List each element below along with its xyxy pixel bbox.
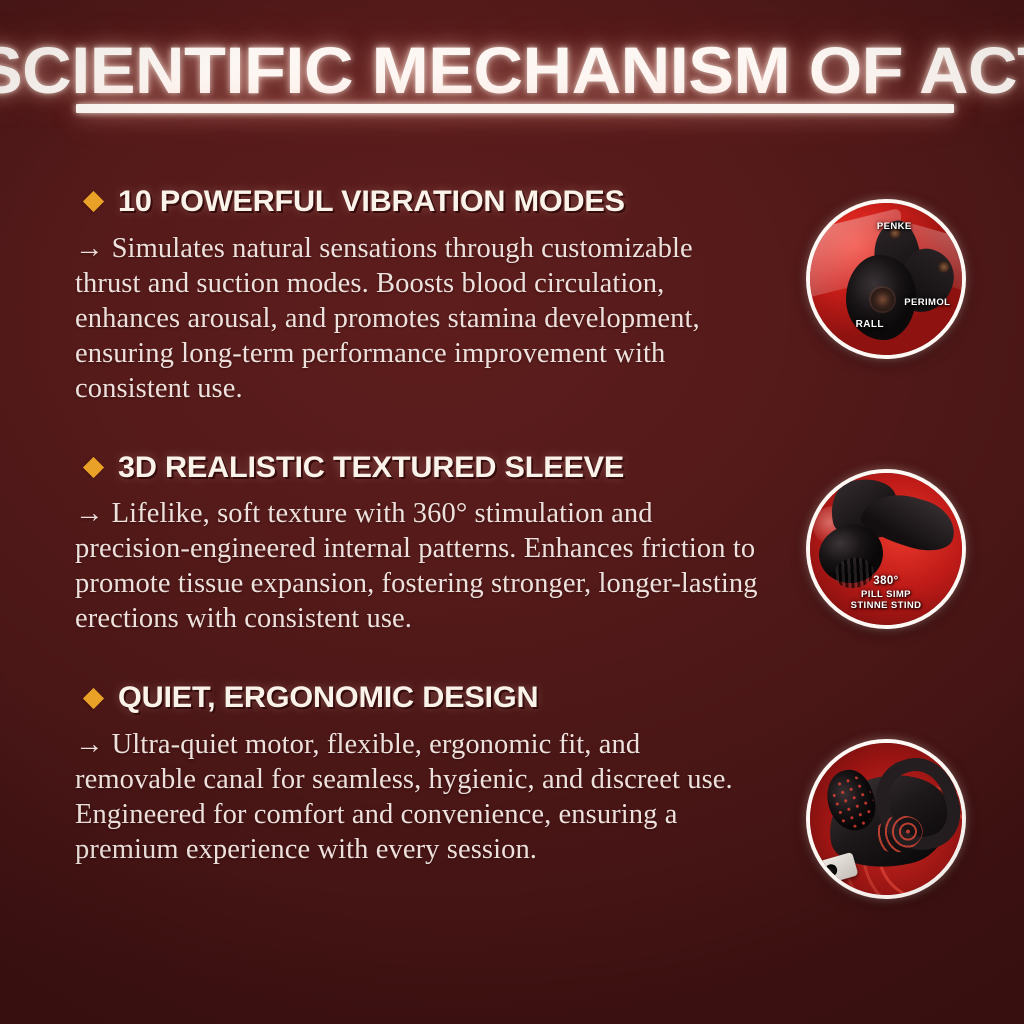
thumbnail-label-line1: 380° xyxy=(810,575,962,589)
diamond-bullet-icon xyxy=(83,457,104,478)
feature-section-1: 10 POWERFUL VIBRATION MODES →Simulates n… xyxy=(75,186,775,406)
thumbnail-label-right: PERIMOL xyxy=(904,297,950,308)
feature-section-3: QUIET, ERGONOMIC DESIGN →Ultra-quiet mot… xyxy=(75,682,775,867)
product-thumbnail-3 xyxy=(806,739,966,899)
page-title: SCIENTIFIC MECHANISM OF ACTION xyxy=(0,38,1024,103)
feature-body-text-2: Lifelike, soft texture with 360° stimula… xyxy=(75,498,758,634)
thumbnail-label-line2: PILL SIMP xyxy=(810,589,962,600)
feature-body-3: →Ultra-quiet motor, flexible, ergonomic … xyxy=(75,727,765,867)
arrow-icon: → xyxy=(75,233,104,264)
feature-heading-row-1: 10 POWERFUL VIBRATION MODES xyxy=(86,186,775,218)
product-thumbnail-2: 380° PILL SIMP STINNE STIND xyxy=(806,469,966,629)
product-thumbnail-1: PENKE RALL PERIMOL xyxy=(806,199,966,359)
feature-body-text-1: Simulates natural sensations through cus… xyxy=(75,233,700,404)
feature-body-text-3: Ultra-quiet motor, flexible, ergonomic f… xyxy=(75,729,733,865)
feature-body-1: →Simulates natural sensations through cu… xyxy=(75,231,765,406)
feature-heading-row-3: QUIET, ERGONOMIC DESIGN xyxy=(86,682,775,714)
thumbnail-label-bottom: RALL xyxy=(856,319,884,330)
title-underline xyxy=(76,104,954,113)
diamond-bullet-icon xyxy=(83,191,104,212)
diamond-bullet-icon xyxy=(83,688,104,709)
feature-heading-2: 3D REALISTIC TEXTURED SLEEVE xyxy=(118,452,624,484)
thumbnail-label-stack: 380° PILL SIMP STINNE STIND xyxy=(810,575,962,611)
title-block: SCIENTIFIC MECHANISM OF ACTION xyxy=(0,38,1024,103)
feature-body-2: →Lifelike, soft texture with 360° stimul… xyxy=(75,496,765,636)
thumbnail-label-line3: STINNE STIND xyxy=(810,600,962,611)
product-image-ergonomic xyxy=(810,743,962,895)
feature-heading-3: QUIET, ERGONOMIC DESIGN xyxy=(118,682,538,714)
arrow-icon: → xyxy=(75,729,104,760)
infographic-page: SCIENTIFIC MECHANISM OF ACTION 10 POWERF… xyxy=(0,0,1024,1024)
feature-heading-1: 10 POWERFUL VIBRATION MODES xyxy=(118,186,625,218)
arrow-icon: → xyxy=(75,498,104,529)
thumbnail-label-top: PENKE xyxy=(877,221,912,232)
feature-section-2: 3D REALISTIC TEXTURED SLEEVE →Lifelike, … xyxy=(75,452,775,637)
feature-heading-row-2: 3D REALISTIC TEXTURED SLEEVE xyxy=(86,452,775,484)
feature-list: 10 POWERFUL VIBRATION MODES →Simulates n… xyxy=(75,186,775,867)
